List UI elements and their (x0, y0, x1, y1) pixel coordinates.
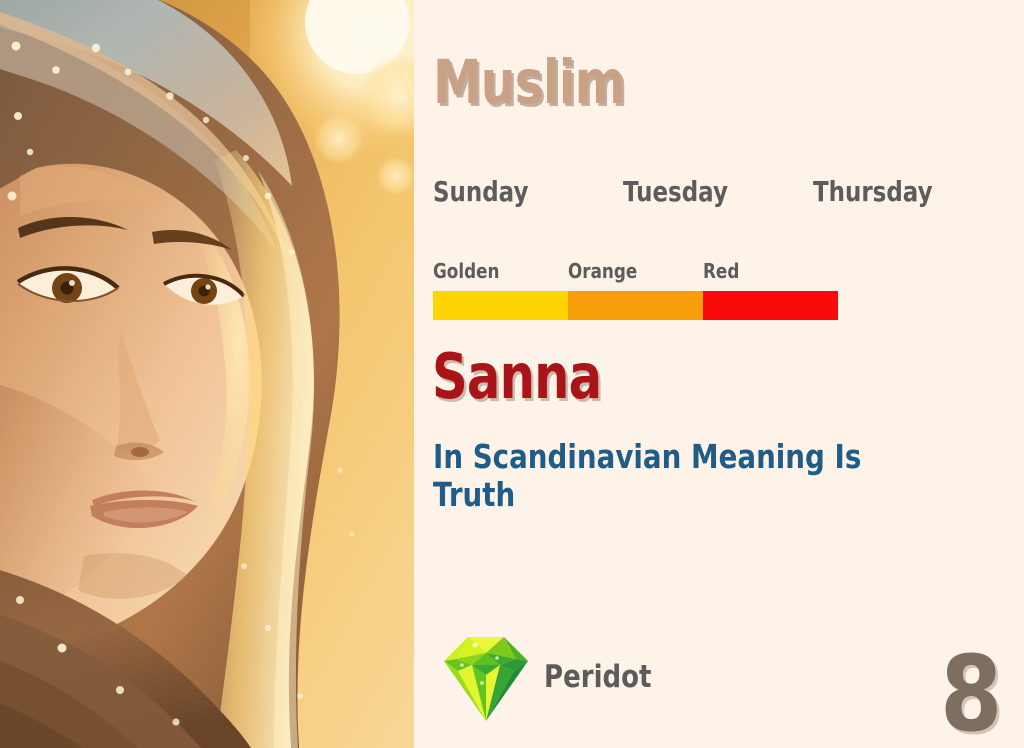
gemstone-label: Peridot (544, 662, 651, 693)
color-swatch-golden (433, 291, 568, 320)
lucky-days-row: Sunday Tuesday Thursday (433, 178, 1013, 206)
color-swatch-red (703, 291, 838, 320)
lucky-number: 8 (940, 642, 1002, 746)
lucky-color-label-2: Red (703, 261, 816, 281)
name-meaning: In Scandinavian Meaning Is Truth (433, 438, 929, 515)
lucky-day-0: Sunday (433, 178, 589, 206)
color-swatch-orange (568, 291, 703, 320)
portrait-photo-image (0, 0, 414, 748)
info-panel: Muslim Sunday Tuesday Thursday Golden Or… (414, 0, 1024, 748)
name-info-card: Muslim Sunday Tuesday Thursday Golden Or… (0, 0, 1024, 748)
lucky-color-label-0: Golden (433, 261, 546, 281)
portrait-photo (0, 0, 414, 748)
lucky-day-2: Thursday (813, 178, 969, 206)
lucky-colors-labels: Golden Orange Red (433, 261, 1013, 281)
gemstone-row: Peridot (442, 631, 672, 723)
lucky-color-label-1: Orange (568, 261, 681, 281)
lucky-colors-bar (433, 291, 838, 320)
religion-title: Muslim (433, 52, 625, 113)
lucky-day-1: Tuesday (623, 178, 779, 206)
person-name: Sanna (432, 346, 601, 408)
gem-icon (442, 631, 530, 723)
